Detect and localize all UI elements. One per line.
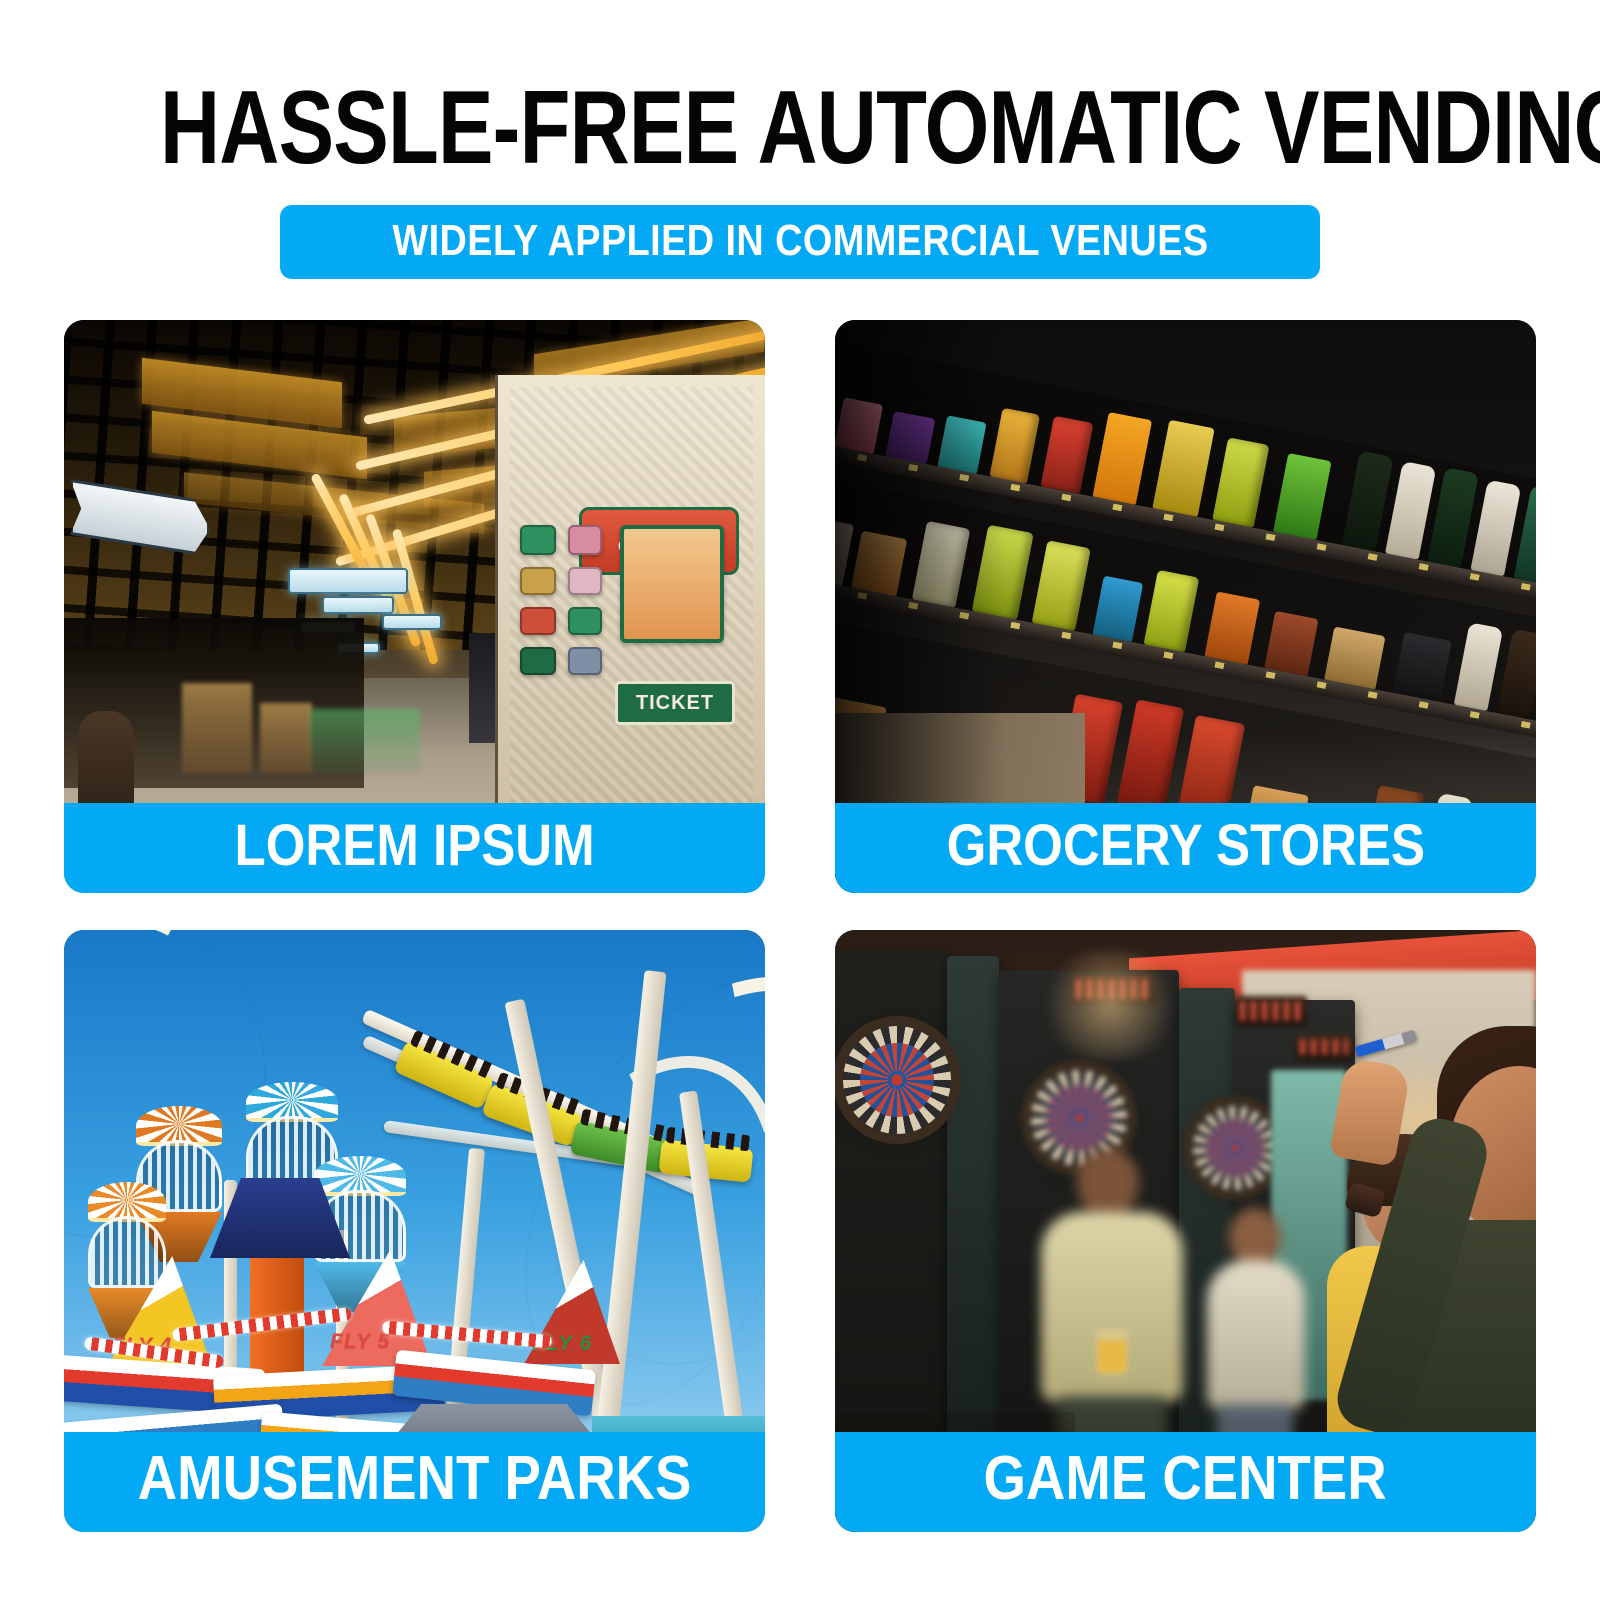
person-head [1229, 1208, 1281, 1266]
card-label-amusement-parks: AMUSEMENT PARKS [64, 1432, 765, 1532]
page-title: HASSLE-FREE AUTOMATIC VENDING [160, 78, 1440, 178]
card-label-text: GAME CENTER [984, 1446, 1387, 1512]
hanging-street-sign [382, 614, 442, 630]
grocery-product [1041, 416, 1094, 494]
kiosk-poster [620, 525, 724, 643]
person-head [1077, 1148, 1139, 1218]
beer-glass [1097, 1330, 1127, 1374]
kiosk-tag [568, 567, 602, 595]
venue-card-grid: HONOR 荣耀 Delicious desserts ADMIT ONE [64, 320, 1536, 1532]
grocery-product [1092, 412, 1152, 505]
card-label-game-center: GAME CENTER [835, 1432, 1536, 1532]
hanging-street-sign [288, 568, 408, 594]
card-label-text: GROCERY STORES [946, 815, 1424, 877]
subtitle-banner-wrap: WIDELY APPLIED IN COMMERCIAL VENUES [0, 205, 1600, 279]
grocery-product [1393, 632, 1452, 702]
grocery-product [1264, 611, 1318, 676]
grocery-product [1204, 591, 1260, 664]
fly-ride-label-5: FLY 5 [330, 1330, 390, 1354]
roller-coaster-car [393, 1040, 495, 1110]
subtitle-banner: WIDELY APPLIED IN COMMERCIAL VENUES [280, 205, 1321, 279]
grocery-product [1213, 437, 1270, 527]
grocery-product [1032, 540, 1091, 631]
venue-card-lorem-ipsum[interactable]: HONOR 荣耀 Delicious desserts ADMIT ONE [64, 320, 765, 893]
subtitle-text: WIDELY APPLIED IN COMMERCIAL VENUES [392, 218, 1208, 264]
kiosk-tag [520, 525, 556, 555]
coaster-riders [409, 1030, 496, 1080]
grocery-product [1092, 576, 1143, 643]
grocery-product [1385, 461, 1436, 560]
venue-card-amusement-parks[interactable]: FLY 4 FLY 5 FLY 6 [64, 930, 765, 1532]
grocery-product [1428, 467, 1480, 568]
gondola-cage [88, 1216, 166, 1288]
grocery-product [1144, 570, 1200, 653]
storefront-glow [310, 709, 420, 773]
grocery-product [1453, 622, 1502, 711]
storefront-glow [260, 703, 312, 773]
dessert-ticket-kiosk: Delicious desserts ADMIT ONE TICKET [495, 375, 765, 815]
poster-root: HASSLE-FREE AUTOMATIC VENDING WIDELY APP… [0, 0, 1600, 1600]
dartboard [843, 1026, 951, 1134]
grocery-product [1152, 420, 1214, 517]
ambient-light-glow [1035, 950, 1185, 1060]
venue-card-grocery-stores[interactable]: GROCERY STORES [835, 320, 1536, 893]
score-display [1235, 996, 1307, 1026]
storefront-glow [182, 683, 252, 773]
card-label-text: LOREM IPSUM [234, 815, 594, 877]
card-label-text: AMUSEMENT PARKS [138, 1446, 692, 1512]
venue-card-game-center[interactable]: GAME CENTER [835, 930, 1536, 1532]
kiosk-tag [568, 647, 602, 675]
dartboard [1193, 1106, 1277, 1190]
grocery-product [1324, 627, 1385, 690]
score-display [1295, 1034, 1353, 1060]
kiosk-tag [568, 525, 602, 555]
grocery-product [1471, 480, 1522, 577]
grocery-product [1342, 451, 1394, 552]
card-label-lorem-ipsum: LOREM IPSUM [64, 803, 765, 893]
grocery-product [1496, 629, 1536, 720]
grocery-product [1273, 453, 1331, 540]
kiosk-tag [568, 607, 602, 635]
person-torso [1207, 1260, 1305, 1410]
card-label-grocery-stores: GROCERY STORES [835, 803, 1536, 893]
kiosk-tag [520, 647, 556, 675]
kiosk-tag [520, 567, 556, 595]
ticket-sign: TICKET [615, 681, 735, 725]
kiosk-tag [520, 607, 556, 635]
hanging-street-sign [322, 596, 394, 614]
